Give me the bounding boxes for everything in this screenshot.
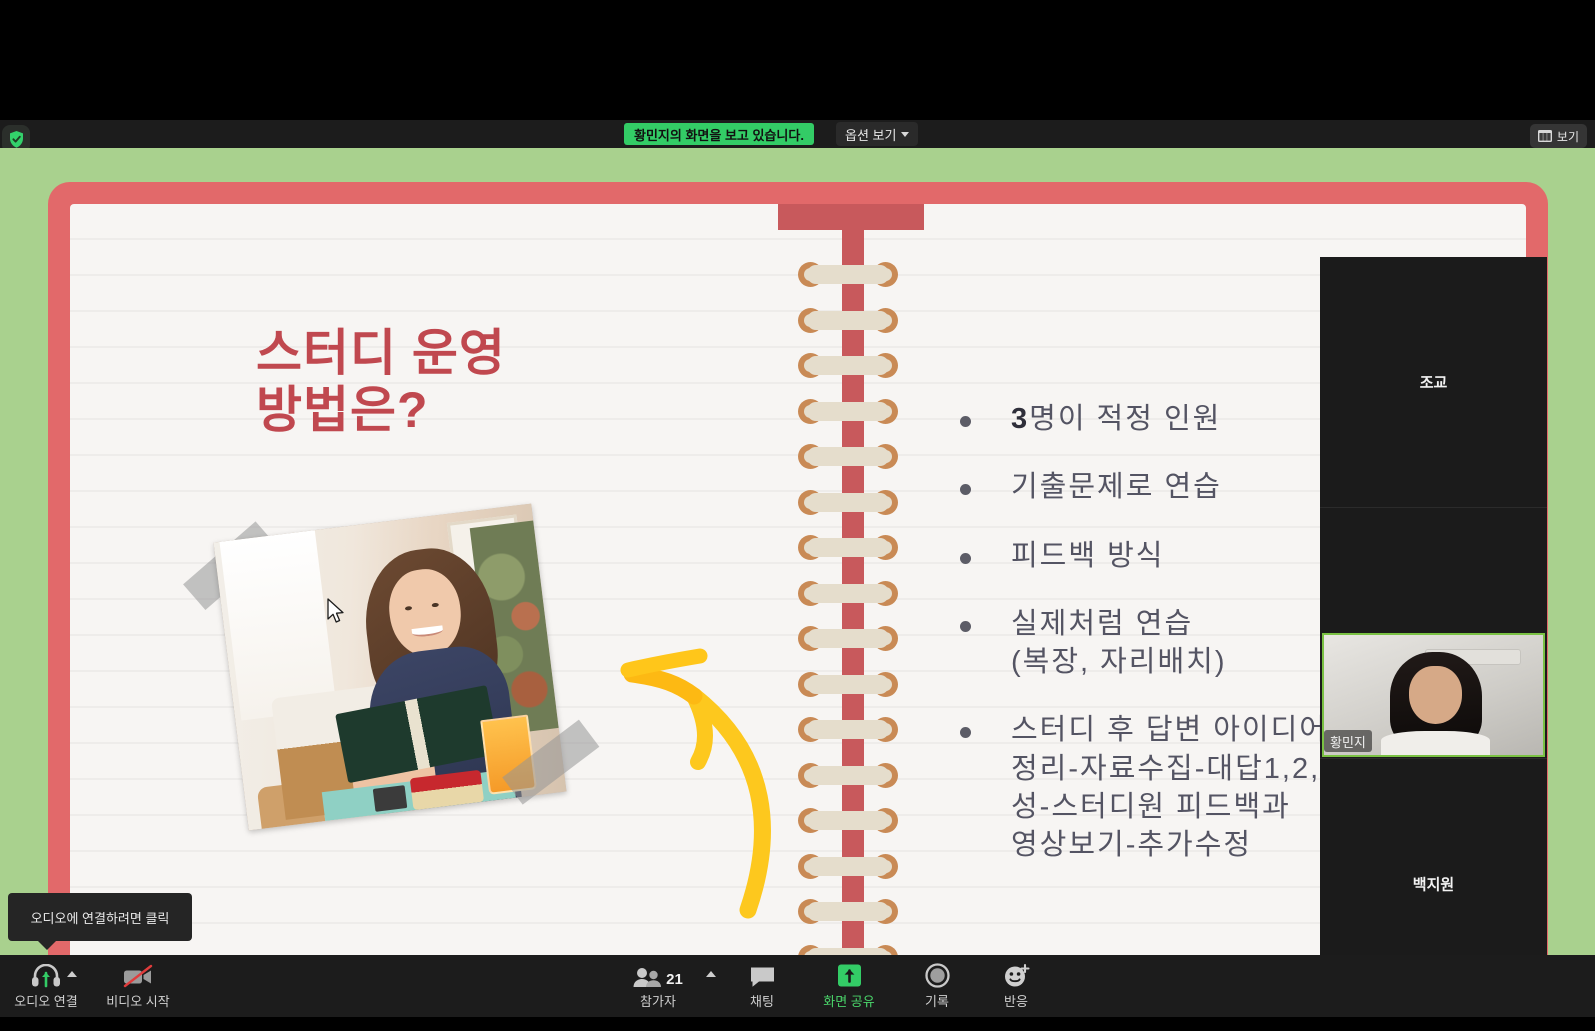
view-layout-button[interactable]: 보기: [1530, 124, 1587, 148]
join-audio-tooltip: 오디오에 연결하려면 클릭: [8, 893, 192, 941]
participant-name: 조교: [1320, 372, 1547, 393]
bullet-dot-icon: [960, 621, 971, 632]
headset-join-audio-icon: [31, 961, 61, 988]
participant-tile[interactable]: 황민지: [1320, 508, 1547, 759]
reactions-label: 반응: [1004, 991, 1028, 1010]
chat-bubble-icon: [749, 961, 776, 988]
bullet-text: 3명이 적정 인원: [1011, 400, 1221, 438]
camera-off-icon: [121, 961, 155, 988]
spiral-ring: [798, 763, 898, 788]
participant-name: 백지원: [1320, 874, 1547, 895]
spiral-ring: [798, 717, 898, 742]
spiral-ring: [798, 626, 898, 651]
share-screen-button[interactable]: 화면 공유: [803, 961, 895, 1010]
spiral-ring: [798, 854, 898, 879]
mouse-cursor: [327, 598, 345, 624]
letterbox-top: [0, 0, 1595, 120]
spiral-ring: [798, 535, 898, 560]
shield-check-icon: [8, 130, 25, 149]
bullet-text: 스터디 후 답변 아이디어 정리-자료수집-대답1,2,3 성-스터디원 피드백…: [1011, 711, 1338, 864]
curved-arrow-icon: [598, 622, 798, 922]
reactions-smiley-icon: [1003, 961, 1030, 988]
tooltip-text: 오디오에 연결하려면 클릭: [31, 908, 170, 927]
bullet-dot-icon: [960, 553, 971, 564]
start-video-button[interactable]: 비디오 시작: [92, 961, 184, 1010]
notebook-page: 스터디 운영 방법은?: [70, 204, 1526, 955]
view-button-label: 보기: [1557, 128, 1579, 145]
spiral-ring: [798, 399, 898, 424]
spiral-ring: [798, 672, 898, 697]
grid-view-icon: [1538, 130, 1552, 142]
view-options-label: 옵션 보기: [845, 125, 896, 144]
slide-photo: [214, 504, 567, 831]
participants-button[interactable]: 21 참가자: [612, 961, 704, 1010]
zoom-meeting-window: 황민지의 화면을 보고 있습니다. 옵션 보기 보기 스터디 운영 방법은?: [0, 0, 1595, 1031]
join-audio-label: 오디오 연결: [14, 991, 77, 1010]
bullet-text: 실제처럼 연습 (복장, 자리배치): [1011, 605, 1227, 682]
bullet-dot-icon: [960, 727, 971, 738]
view-options-button[interactable]: 옵션 보기: [836, 122, 918, 146]
participant-filmstrip[interactable]: 조교황민지백지원김도훈박승혜전미연: [1320, 257, 1547, 1031]
participants-label: 참가자: [640, 991, 676, 1010]
start-video-label: 비디오 시작: [106, 991, 169, 1010]
reactions-button[interactable]: 반응: [970, 961, 1062, 1010]
record-icon: [924, 961, 951, 988]
bullet-dot-icon: [960, 484, 971, 495]
chat-button[interactable]: 채팅: [716, 961, 808, 1010]
share-screen-label: 화면 공유: [823, 991, 874, 1010]
spiral-ring: [798, 808, 898, 833]
participant-tile[interactable]: 조교: [1320, 257, 1547, 508]
bullet-dot-icon: [960, 416, 971, 427]
record-label: 기록: [925, 991, 949, 1010]
chat-label: 채팅: [750, 991, 774, 1010]
bullet-text: 기출문제로 연습: [1011, 468, 1222, 506]
share-banner-text: 황민지의 화면을 보고 있습니다.: [634, 125, 804, 144]
chevron-down-icon: [901, 132, 909, 137]
spiral-ring: [798, 353, 898, 378]
screen-share-banner: 황민지의 화면을 보고 있습니다.: [624, 123, 814, 145]
participant-name-badge: 황민지: [1324, 730, 1372, 752]
audio-options-chevron-icon[interactable]: [67, 971, 77, 977]
spiral-ring: [798, 945, 898, 956]
share-screen-icon: [836, 961, 863, 988]
spiral-ring: [798, 490, 898, 515]
spiral-ring: [798, 444, 898, 469]
letterbox-bottom: [0, 1017, 1595, 1031]
slide-title: 스터디 운영 방법은?: [256, 325, 506, 439]
spiral-ring: [798, 899, 898, 924]
spiral-ring: [798, 581, 898, 606]
spiral-ring: [798, 262, 898, 287]
meeting-toolbar: 오디오 연결 비디오 시작 21: [0, 955, 1595, 1017]
participants-icon: 21: [633, 961, 683, 988]
bullet-text: 피드백 방식: [1011, 537, 1164, 575]
participant-name: 황민지: [1330, 732, 1366, 751]
join-audio-button[interactable]: 오디오 연결: [0, 961, 92, 1010]
participants-chevron-icon[interactable]: [706, 971, 716, 977]
spiral-ring: [798, 308, 898, 333]
participants-count: 21: [666, 971, 683, 988]
tooltip-arrow: [38, 941, 56, 950]
